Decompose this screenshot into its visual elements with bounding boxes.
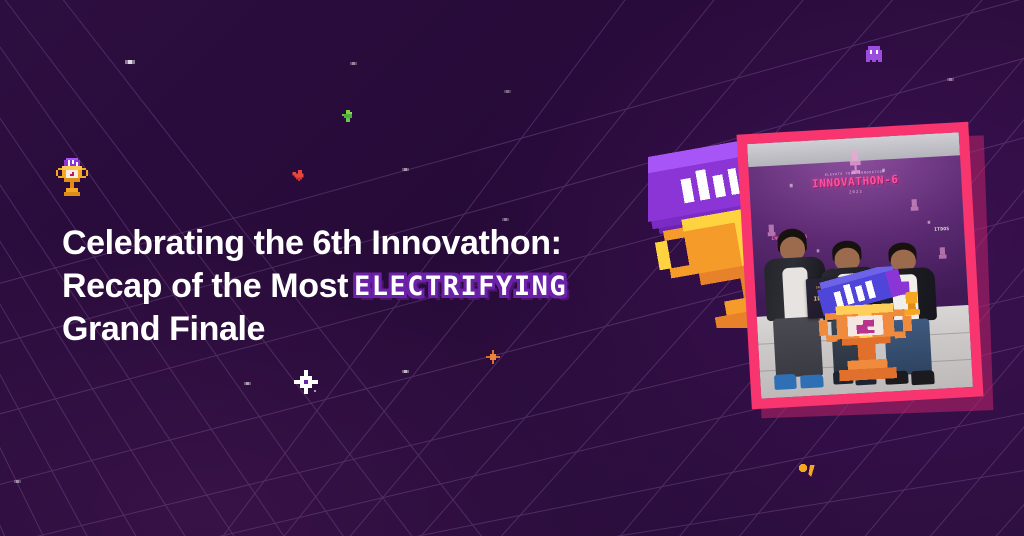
photo-frame: ELEVATE YOUR INNOVATION INNOVATHON-6 202… bbox=[737, 122, 984, 410]
pixel-comma-orange-icon bbox=[798, 462, 818, 482]
headline-line-1: Celebrating the 6th Innovathon: bbox=[62, 222, 662, 265]
pixel-sparkle-orange-icon bbox=[486, 350, 500, 364]
headline-highlight-electrifying: ELECTRIFYING bbox=[354, 265, 567, 308]
pixel-ghost-purple-icon bbox=[864, 44, 884, 64]
pixel-sparkle-green-icon bbox=[340, 108, 356, 124]
shoe-left bbox=[774, 374, 798, 390]
innovathon-hero-banner: ELEVATE YOUR INNOVATION INNOVATHON-6 202… bbox=[0, 0, 1024, 536]
sparkle-dot bbox=[506, 90, 509, 93]
page-title: Celebrating the 6th Innovathon: Recap of… bbox=[62, 222, 662, 351]
pixel-heart-red-icon bbox=[292, 170, 306, 183]
pixel-trophy-6-icon bbox=[52, 156, 92, 198]
event-photo: ELEVATE YOUR INNOVATION INNOVATHON-6 202… bbox=[747, 132, 973, 398]
sparkle-dot bbox=[949, 78, 952, 81]
overlay-pixel-trophy-icon bbox=[809, 265, 922, 393]
sparkle-dot bbox=[352, 62, 355, 65]
sparkle-dot bbox=[16, 480, 19, 483]
headline-line-2: Recap of the MostELECTRIFYING bbox=[62, 265, 662, 308]
sparkle-dot bbox=[504, 218, 507, 221]
sparkle-dot bbox=[404, 370, 407, 373]
sparkle-dot bbox=[128, 60, 132, 64]
backdrop-logo-right: ITDOS bbox=[934, 227, 949, 233]
star-burst-white-icon bbox=[292, 368, 320, 396]
sparkle-dot bbox=[404, 168, 407, 171]
sparkle-dot bbox=[246, 382, 249, 385]
headline-line-2-prefix: Recap of the Most bbox=[62, 267, 348, 305]
headline-line-3: Grand Finale bbox=[62, 308, 662, 351]
event-photo-card: ELEVATE YOUR INNOVATION INNOVATHON-6 202… bbox=[737, 122, 984, 410]
